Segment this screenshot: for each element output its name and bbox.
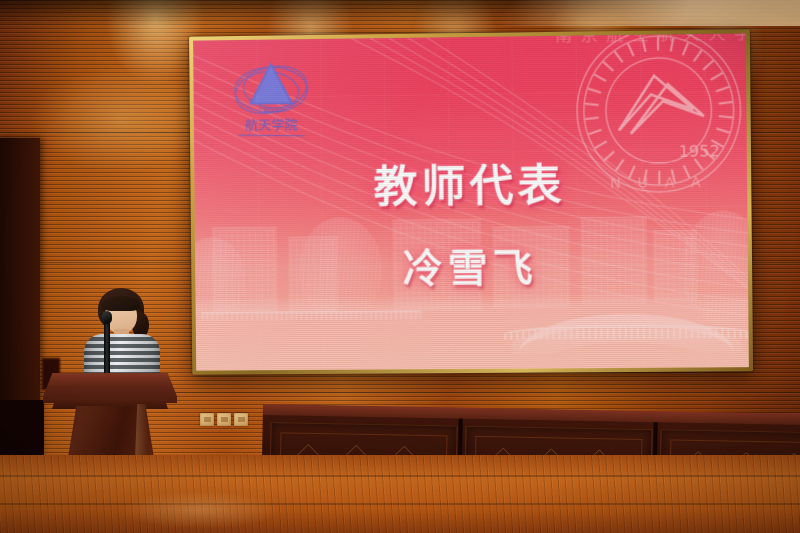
college-logo-icon: NUAA 航天学院 <box>216 50 327 150</box>
seal-abbrev: N U A A <box>610 175 707 192</box>
led-screen[interactable]: NUAA 航天学院 <box>193 33 749 370</box>
ceiling-edge-highlight <box>380 0 800 26</box>
microphone-head-icon <box>102 311 112 324</box>
university-seal-watermark-icon: 1952 N U A A 南京航空航天大学 <box>545 33 749 208</box>
slide-subtitle: 冷雪飞 <box>195 233 748 296</box>
slide-title: 教师代表 <box>194 147 747 217</box>
stone-bridge <box>504 317 749 359</box>
seal-year: 1952 <box>678 141 719 161</box>
slide-text-block: 教师代表 冷雪飞 <box>194 147 748 296</box>
socket-3-icon[interactable] <box>234 413 248 426</box>
svg-text:NUAA: NUAA <box>264 109 280 115</box>
wood-floor <box>0 455 800 533</box>
ceremony-hall-photo: NUAA 航天学院 <box>0 0 800 533</box>
wall-socket-group <box>200 413 248 426</box>
socket-2-icon[interactable] <box>217 413 231 426</box>
floor-light-reflection <box>120 491 280 529</box>
speaker-fringe <box>102 296 140 311</box>
speaker-figure <box>84 288 160 384</box>
seal-chinese: 南京航空航天大学 <box>555 33 749 45</box>
microphone-stem-icon <box>104 316 110 380</box>
college-logo-caption: 航天学院 <box>245 117 298 134</box>
led-screen-frame: NUAA 航天学院 <box>189 29 753 374</box>
socket-1-icon[interactable] <box>200 413 214 426</box>
